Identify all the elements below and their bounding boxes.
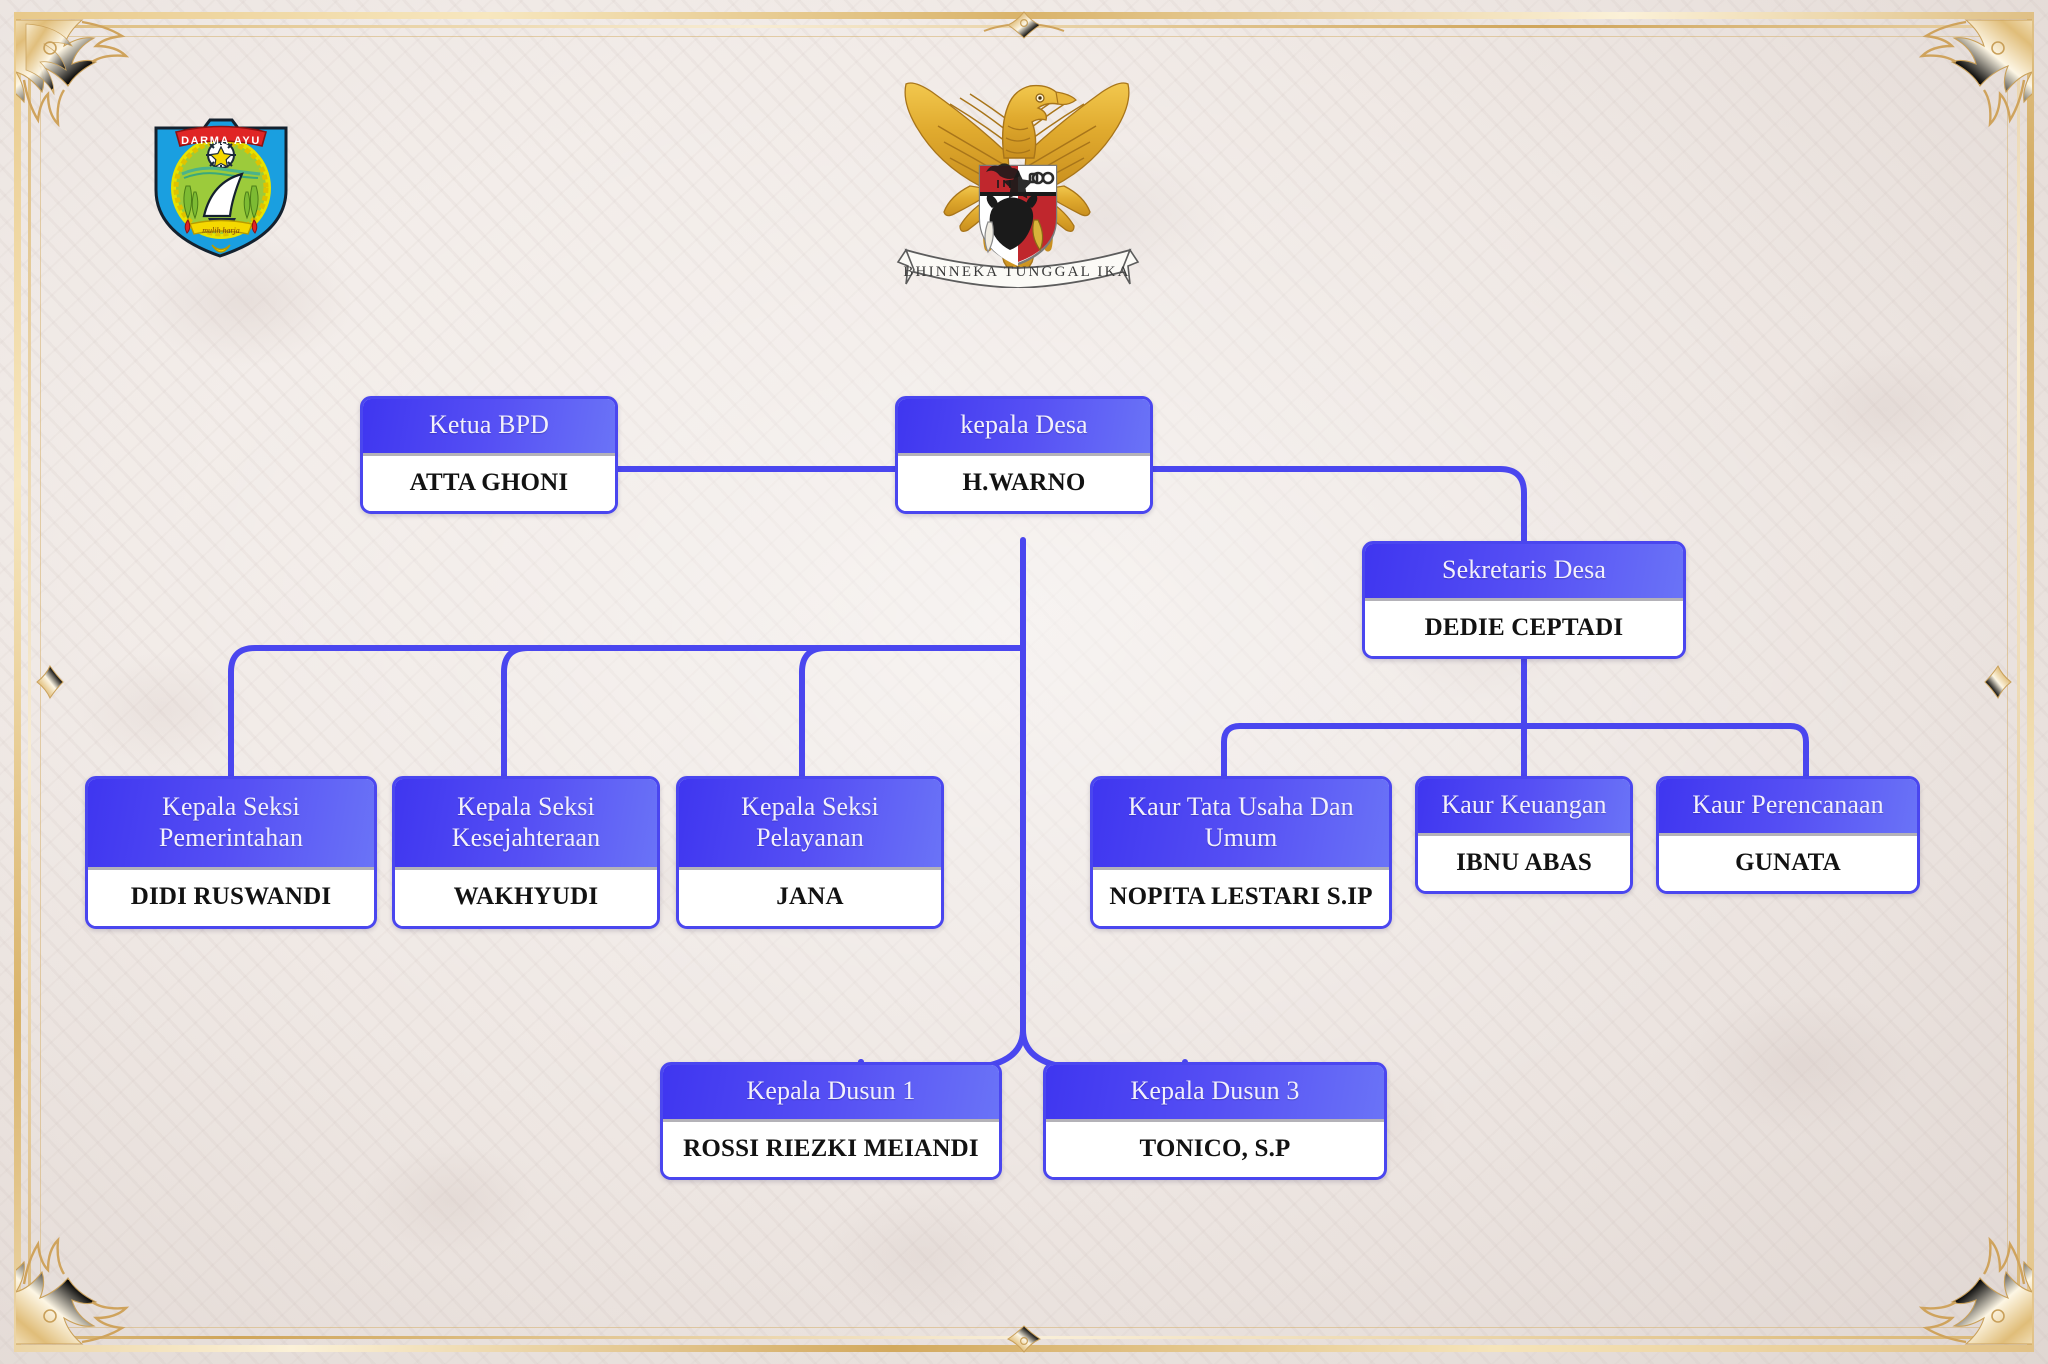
- node-kepala-desa[interactable]: kepala Desa H.WARNO: [895, 396, 1153, 514]
- node-kepala-dusun-3[interactable]: Kepala Dusun 3 TONICO, S.P: [1043, 1062, 1387, 1180]
- garuda-motto-text: BHINNEKA TUNGGAL IKA: [903, 264, 1130, 280]
- garuda-pancasila-emblem-icon: BHINNEKA TUNGGAL IKA: [888, 62, 1146, 288]
- node-kepala-dusun-1[interactable]: Kepala Dusun 1 ROSSI RIEZKI MEIANDI: [660, 1062, 1002, 1180]
- node-seksi-pemerintahan[interactable]: Kepala Seksi Pemerintahan DIDI RUSWANDI: [85, 776, 377, 929]
- node-person-name: NOPITA LESTARI S.IP: [1093, 870, 1389, 926]
- regency-scroll-text: mulih harja: [202, 226, 240, 235]
- node-person-name: DEDIE CEPTADI: [1365, 601, 1683, 657]
- node-title: Kepala Dusun 3: [1046, 1065, 1384, 1122]
- node-person-name: ROSSI RIEZKI MEIANDI: [663, 1122, 999, 1178]
- indramayu-regency-emblem-icon: mulih harja DARMA AYU: [146, 112, 296, 264]
- node-title: Kaur Tata Usaha Dan Umum: [1093, 779, 1389, 870]
- node-title: Kepala Seksi Kesejahteraan: [395, 779, 657, 870]
- node-title: Kepala Seksi Pelayanan: [679, 779, 941, 870]
- node-title: kepala Desa: [898, 399, 1150, 456]
- node-title: Kepala Dusun 1: [663, 1065, 999, 1122]
- node-kaur-keuangan[interactable]: Kaur Keuangan IBNU ABAS: [1415, 776, 1633, 894]
- node-seksi-kesejahteraan[interactable]: Kepala Seksi Kesejahteraan WAKHYUDI: [392, 776, 660, 929]
- node-person-name: GUNATA: [1659, 836, 1917, 892]
- node-title: Kaur Keuangan: [1418, 779, 1630, 836]
- node-seksi-pelayanan[interactable]: Kepala Seksi Pelayanan JANA: [676, 776, 944, 929]
- node-kaur-perencanaan[interactable]: Kaur Perencanaan GUNATA: [1656, 776, 1920, 894]
- node-title: Kaur Perencanaan: [1659, 779, 1917, 836]
- node-person-name: WAKHYUDI: [395, 870, 657, 926]
- node-kaur-tata-usaha[interactable]: Kaur Tata Usaha Dan Umum NOPITA LESTARI …: [1090, 776, 1392, 929]
- org-chart-poster: mulih harja DARMA AYU: [0, 0, 2048, 1364]
- node-sekretaris-desa[interactable]: Sekretaris Desa DEDIE CEPTADI: [1362, 541, 1686, 659]
- node-person-name: TONICO, S.P: [1046, 1122, 1384, 1178]
- node-ketua-bpd[interactable]: Ketua BPD ATTA GHONI: [360, 396, 618, 514]
- node-person-name: JANA: [679, 870, 941, 926]
- node-person-name: H.WARNO: [898, 456, 1150, 512]
- node-person-name: IBNU ABAS: [1418, 836, 1630, 892]
- node-person-name: ATTA GHONI: [363, 456, 615, 512]
- regency-banner-text: DARMA AYU: [181, 135, 261, 147]
- node-title: Ketua BPD: [363, 399, 615, 456]
- node-title: Sekretaris Desa: [1365, 544, 1683, 601]
- node-person-name: DIDI RUSWANDI: [88, 870, 374, 926]
- node-title: Kepala Seksi Pemerintahan: [88, 779, 374, 870]
